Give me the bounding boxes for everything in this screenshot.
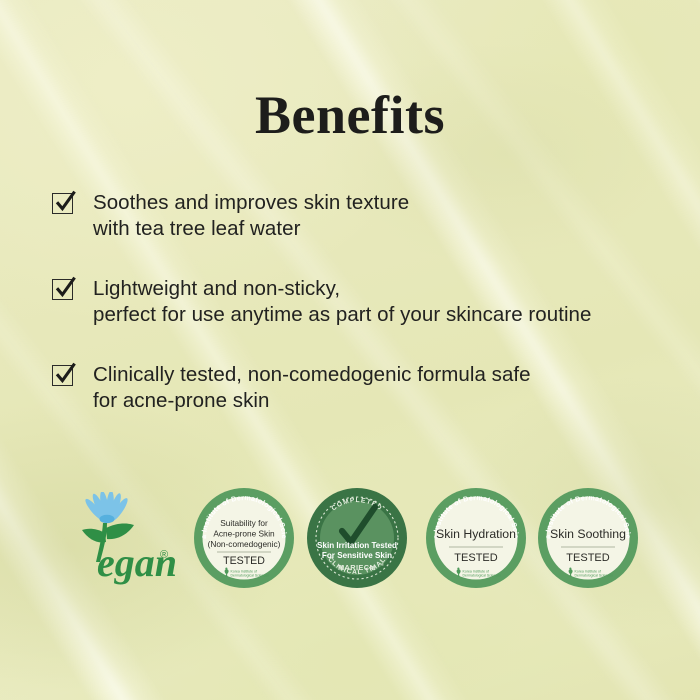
benefits-list: Soothes and improves skin texture with t… <box>52 190 662 448</box>
benefit-checkbox <box>52 279 75 302</box>
benefit-item: Soothes and improves skin texture with t… <box>52 190 662 242</box>
checkmark-icon <box>53 189 78 215</box>
benefit-text: Soothes and improves skin texture with t… <box>93 190 409 242</box>
vegan-registered-mark: ® <box>160 549 168 561</box>
badge-skin-soothing: Korea Institute of Dermatological Scienc… <box>536 486 640 590</box>
checkmark-icon <box>53 275 78 301</box>
benefit-checkbox <box>52 193 75 216</box>
vegan-wordmark: egan <box>97 540 176 585</box>
svg-text:Skin Irritation Tested: Skin Irritation Tested <box>317 541 397 550</box>
badge-status: TESTED <box>454 552 497 564</box>
svg-text:(Non-comedogenic): (Non-comedogenic) <box>208 539 281 549</box>
svg-text:Dermatological Sciences: Dermatological Sciences <box>231 573 270 577</box>
badge-acne-prone: Korea Institute of Dermatological Scienc… <box>192 486 296 590</box>
benefit-item: Clinically tested, non-comedogenic formu… <box>52 362 662 414</box>
badge-skin-hydration: Korea Institute of Dermatological Scienc… <box>424 486 528 590</box>
infographic-canvas: Benefits Soothes and improves skin textu… <box>0 0 700 700</box>
page-title: Benefits <box>0 84 700 146</box>
badge-status: TESTED <box>566 552 609 564</box>
benefit-item: Lightweight and non-sticky, perfect for … <box>52 276 662 328</box>
flower-petals-icon <box>83 492 130 523</box>
svg-text:For Sensitive Skin: For Sensitive Skin <box>322 551 392 560</box>
checkmark-icon <box>53 361 78 387</box>
content-layer: Benefits Soothes and improves skin textu… <box>0 0 700 700</box>
badge-status: TESTED <box>223 555 265 567</box>
benefit-checkbox <box>52 365 75 388</box>
svg-text:Dermatological Sciences: Dermatological Sciences <box>575 573 614 577</box>
benefit-text: Clinically tested, non-comedogenic formu… <box>93 362 531 414</box>
badge-skin-irritation: COMPLETED CLINICAL TRIAL Skin Irritation… <box>305 486 409 590</box>
svg-text:Suitability for: Suitability for <box>220 518 268 528</box>
benefit-text: Lightweight and non-sticky, perfect for … <box>93 276 591 328</box>
badge-title: Skin Soothing <box>550 527 626 541</box>
badge-brand: MARIECM <box>338 563 376 572</box>
badge-title: Skin Irritation Tested For Sensitive Ski… <box>317 541 397 560</box>
badge-brand-mark: ® <box>381 562 384 567</box>
badge-title: Skin Hydration <box>436 527 516 541</box>
svg-text:Dermatological Sciences: Dermatological Sciences <box>463 573 502 577</box>
svg-text:Acne-prone Skin: Acne-prone Skin <box>213 529 275 539</box>
certification-badge-row: egan ® Korea Institute of Dermatological… <box>0 486 700 596</box>
vegan-logo: egan ® <box>56 492 176 588</box>
